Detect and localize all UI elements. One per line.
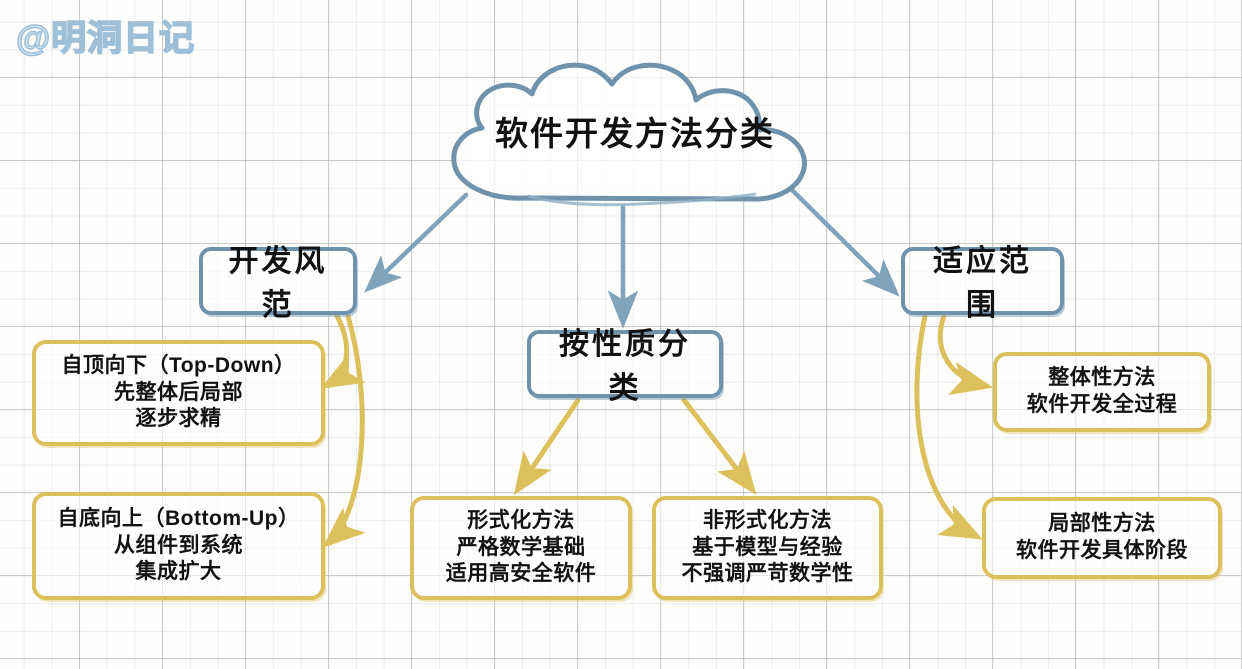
category-node-by-nature[interactable]: 按性质分类 xyxy=(527,330,723,398)
leaf-line: 自底向上（Bottom-Up） xyxy=(58,506,300,533)
leaf-line: 局部性方法 xyxy=(1048,511,1156,538)
leaf-node-informal-method[interactable]: 非形式化方法 基于模型与经验 不强调严苛数学性 xyxy=(652,496,883,600)
leaf-line: 软件开发全过程 xyxy=(1027,392,1178,419)
leaf-node-top-down[interactable]: 自顶向下（Top-Down） 先整体后局部 逐步求精 xyxy=(32,340,325,446)
watermark-text: @明洞日记 xyxy=(16,10,195,61)
leaf-line: 自顶向下（Top-Down） xyxy=(61,353,295,380)
leaf-line: 严格数学基础 xyxy=(457,535,586,562)
link-scope-to-holistic xyxy=(940,316,986,386)
leaf-line: 不强调严苛数学性 xyxy=(682,561,854,588)
leaf-line: 整体性方法 xyxy=(1048,365,1156,392)
category-label: 按性质分类 xyxy=(545,319,705,407)
category-node-dev-paradigm[interactable]: 开发风范 xyxy=(199,247,357,315)
leaf-node-bottom-up[interactable]: 自底向上（Bottom-Up） 从组件到系统 集成扩大 xyxy=(32,492,325,600)
leaf-node-holistic-method[interactable]: 整体性方法 软件开发全过程 xyxy=(993,352,1211,432)
leaf-line: 形式化方法 xyxy=(467,508,575,535)
root-node-cloud[interactable]: 软件开发方法分类 xyxy=(428,58,842,210)
leaf-line: 逐步求精 xyxy=(136,406,222,433)
category-label: 开发风范 xyxy=(217,236,339,324)
leaf-line: 先整体后局部 xyxy=(114,380,243,407)
link-by-nature-to-informal xyxy=(684,400,752,489)
leaf-line: 软件开发具体阶段 xyxy=(1016,538,1188,565)
category-label: 适应范围 xyxy=(919,236,1046,324)
leaf-line: 集成扩大 xyxy=(136,559,222,586)
leaf-node-local-method[interactable]: 局部性方法 软件开发具体阶段 xyxy=(982,497,1222,579)
leaf-node-formal-method[interactable]: 形式化方法 严格数学基础 适用高安全软件 xyxy=(410,496,632,600)
leaf-line: 适用高安全软件 xyxy=(446,561,597,588)
link-dev-paradigm-to-top-down xyxy=(327,316,347,385)
mindmap-canvas: @明洞日记 软件开发方法分类 xyxy=(0,0,1242,669)
leaf-line: 非形式化方法 xyxy=(703,508,832,535)
link-scope-to-local xyxy=(917,316,976,536)
root-node-label: 软件开发方法分类 xyxy=(428,58,842,210)
leaf-line: 从组件到系统 xyxy=(114,533,243,560)
link-dev-paradigm-to-bottom-up xyxy=(328,316,362,543)
leaf-line: 基于模型与经验 xyxy=(692,535,843,562)
category-node-scope[interactable]: 适应范围 xyxy=(901,247,1064,315)
link-by-nature-to-formal xyxy=(518,400,578,489)
